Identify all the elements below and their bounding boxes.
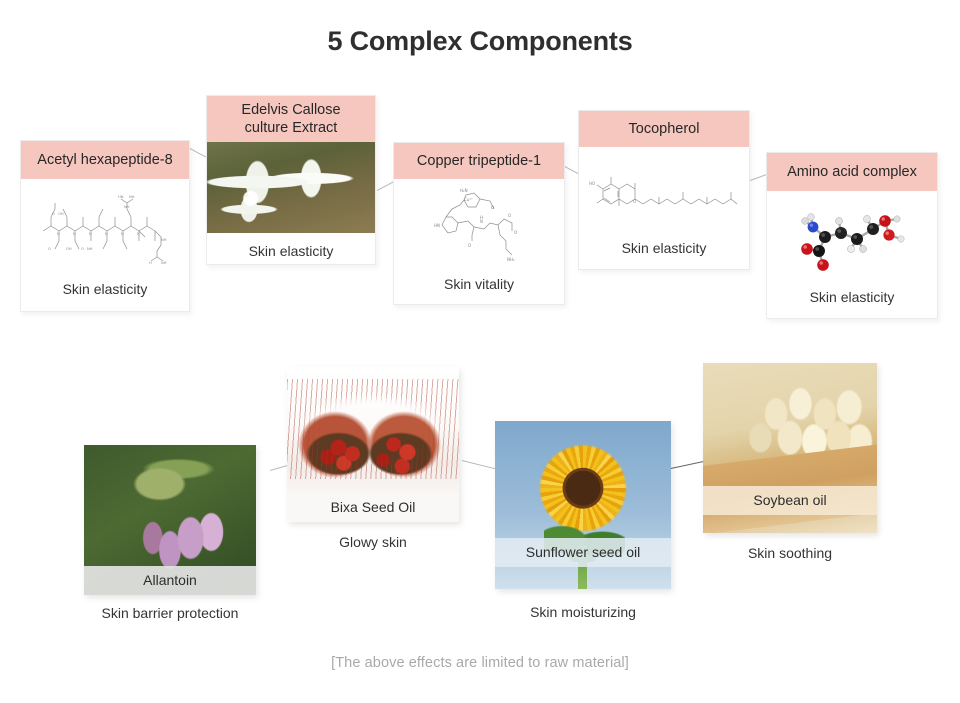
connector-line-6: [462, 460, 497, 470]
soybeans-photo: Soybean oil: [703, 363, 877, 533]
card-effect-label: Glowy skin: [287, 534, 459, 550]
card-effect-label: Skin vitality: [394, 276, 564, 292]
component-card-soybean-oil[interactable]: Soybean oil Skin soothing: [703, 363, 877, 543]
edelweiss-flower-photo: [207, 142, 375, 233]
svg-text:N: N: [57, 232, 60, 236]
annatto-bixa-seed-pod-photo: Bixa Seed Oil: [287, 367, 459, 522]
svg-text:Cu²⁺: Cu²⁺: [464, 197, 473, 202]
card-effect-label: Skin soothing: [703, 545, 877, 561]
card-effect-label: Skin elasticity: [579, 240, 749, 256]
card-header-label: Copper tripeptide-1: [394, 143, 564, 179]
svg-text:O: O: [633, 199, 636, 204]
svg-text:HO: HO: [589, 181, 595, 186]
component-card-tocopherol[interactable]: Tocopherol HO O Skin elastic: [578, 110, 750, 270]
svg-text:O: O: [514, 230, 517, 235]
svg-text:OH: OH: [66, 247, 72, 251]
card-header-label: Acetyl hexapeptide-8: [21, 141, 189, 179]
card-effect-label: Skin elasticity: [207, 243, 375, 259]
svg-text:HN: HN: [434, 223, 440, 228]
sunflower-photo: Sunflower seed oil: [495, 421, 671, 589]
card-header-line-2: culture Extract: [245, 119, 338, 137]
svg-text:NH: NH: [161, 261, 167, 265]
svg-text:H: H: [480, 215, 483, 220]
svg-text:NH: NH: [161, 238, 167, 242]
component-card-edelvis-callose[interactable]: Edelvis Callose culture Extract Skin ela…: [206, 95, 376, 265]
svg-text:NH: NH: [124, 205, 130, 209]
svg-text:OH: OH: [58, 212, 64, 216]
svg-text:N: N: [73, 232, 76, 236]
infographic-canvas: 5 Complex Components Acetyl hexapeptide-…: [0, 0, 960, 703]
card-effect-label: Skin moisturizing: [495, 604, 671, 620]
comfrey-flower-photo: Allantoin: [84, 445, 256, 595]
copper-tripeptide-structure: H₂N O Cu²⁺ HN N H O O O NH₂: [394, 179, 564, 267]
svg-text:O: O: [81, 247, 84, 251]
component-card-amino-acid-complex[interactable]: Amino acid complex: [766, 152, 938, 319]
pod-spikes-texture: [287, 379, 459, 478]
svg-text:O: O: [491, 205, 494, 210]
card-name-label: Allantoin: [84, 566, 256, 595]
svg-text:N: N: [89, 232, 92, 236]
card-effect-label: Skin elasticity: [21, 281, 189, 297]
card-name-label: Soybean oil: [703, 486, 877, 515]
component-card-sunflower-seed-oil[interactable]: Sunflower seed oil Skin moisturizing: [495, 421, 671, 616]
svg-text:H₂N: H₂N: [460, 188, 468, 193]
svg-text:NH: NH: [87, 247, 93, 251]
footnote-text: [The above effects are limited to raw ma…: [0, 655, 960, 671]
card-name-label: Bixa Seed Oil: [287, 493, 459, 522]
svg-text:O: O: [52, 212, 55, 216]
svg-text:NH: NH: [129, 195, 135, 199]
card-header-label: Tocopherol: [579, 111, 749, 147]
component-card-acetyl-hexapeptide-8[interactable]: Acetyl hexapeptide-8 OOH OOH ONH: [20, 140, 190, 312]
card-header-label: Edelvis Callose culture Extract: [207, 96, 375, 142]
card-effect-label: Skin elasticity: [767, 289, 937, 305]
tocopherol-structure: HO O: [579, 147, 749, 231]
svg-text:O: O: [48, 247, 51, 251]
amino-acid-ball-stick-model: [767, 191, 937, 279]
svg-text:N: N: [121, 232, 124, 236]
svg-text:O: O: [468, 243, 471, 248]
component-card-allantoin[interactable]: Allantoin Skin barrier protection: [84, 445, 256, 625]
svg-text:H: H: [149, 261, 152, 265]
svg-text:HN: HN: [118, 195, 124, 199]
component-card-bixa-seed-oil[interactable]: Bixa Seed Oil Glowy skin: [287, 367, 459, 557]
acetyl-hexapeptide-structure: OOH OOH ONH NN NN NN NH HNNH HNH NH: [21, 179, 189, 271]
page-title: 5 Complex Components: [0, 26, 960, 57]
svg-text:O: O: [508, 213, 511, 218]
svg-text:N: N: [137, 232, 140, 236]
component-card-copper-tripeptide-1[interactable]: Copper tripeptide-1 H₂N O Cu²⁺: [393, 142, 565, 305]
card-effect-label: Skin barrier protection: [84, 605, 256, 621]
svg-text:N: N: [105, 232, 108, 236]
card-header-line-1: Edelvis Callose: [241, 101, 340, 119]
card-name-label: Sunflower seed oil: [495, 538, 671, 567]
card-header-label: Amino acid complex: [767, 153, 937, 191]
svg-text:NH₂: NH₂: [507, 257, 515, 262]
connector-line-7: [666, 461, 705, 470]
